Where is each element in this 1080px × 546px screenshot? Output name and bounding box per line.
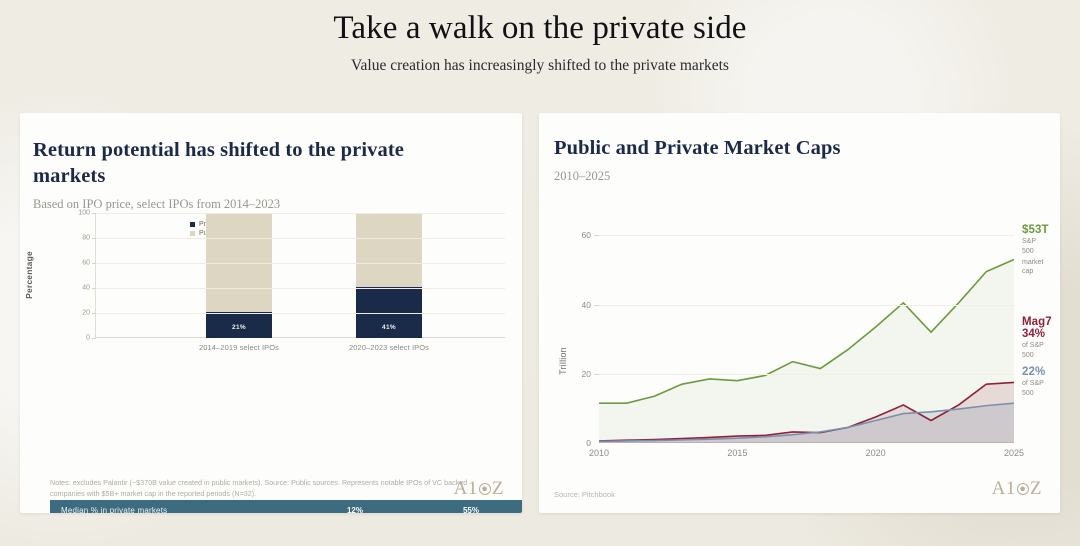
median-value-1: 12% (300, 506, 410, 513)
deck-header: Take a walk on the private side Value cr… (0, 0, 1080, 75)
annotation-line2: market cap (1022, 258, 1049, 278)
bar-chart-y-tick: 20 (82, 310, 90, 317)
bar-chart-x-tick: 2014–2019 select IPOs (179, 343, 299, 352)
median-summary-row: Median % in private markets 12% 55% (50, 500, 522, 513)
line-chart-x-tick: 2015 (727, 448, 747, 458)
bar-chart-y-tick: 40 (82, 285, 90, 292)
line-chart-gridline (599, 305, 1014, 306)
annotation-value-2: 34% (1022, 328, 1052, 340)
bar-column: 41% (356, 213, 422, 338)
line-chart-y-tick-mark (594, 374, 599, 375)
a16z-logo: A1Z (454, 478, 504, 500)
a16z-logo-z: Z (1030, 478, 1042, 500)
bar-chart-y-tick-mark (92, 288, 96, 289)
line-chart-svg (599, 218, 1014, 443)
bar-value-label: 41% (356, 324, 422, 331)
line-chart: Trillion $53T S&P 500 market cap Mag7 34… (554, 208, 1046, 513)
annotation-sp500: $53T S&P 500 market cap (1022, 224, 1049, 277)
bar-value-label: 21% (206, 324, 272, 331)
line-chart-y-tick-mark (594, 235, 599, 236)
right-panel-title: Public and Private Market Caps (539, 113, 1060, 160)
bar-chart-gridline (96, 263, 505, 264)
annotation-line1: of S&P 500 (1022, 379, 1045, 399)
bar-chart-y-tick: 60 (82, 260, 90, 267)
bar-chart-y-tick-mark (92, 263, 96, 264)
bar-chart-baseline (96, 337, 505, 338)
median-label: Median % in private markets (50, 506, 300, 513)
bar-chart-x-tick: 2020–2023 select IPOs (329, 343, 449, 352)
bar-chart: Percentage Private markets Public market… (33, 213, 513, 363)
bar-chart-gridline (96, 288, 505, 289)
bar-chart-y-tick: 100 (78, 210, 90, 217)
line-chart-y-tick: 40 (582, 300, 591, 310)
a16z-logo-z: Z (492, 478, 504, 500)
right-panel: Public and Private Market Caps 2010–2025… (539, 113, 1060, 513)
annotation-line1: S&P 500 (1022, 237, 1049, 257)
bar-chart-gridline (96, 313, 505, 314)
left-panel-subtitle: Based on IPO price, select IPOs from 201… (20, 189, 522, 212)
left-panel-title: Return potential has shifted to the priv… (20, 113, 522, 189)
annotation-mag7: Mag7 34% of S&P 500 (1022, 316, 1052, 361)
bar-chart-y-tick-mark (92, 338, 96, 339)
annotation-value: $53T (1022, 224, 1049, 236)
line-chart-y-axis-label: Trillion (558, 347, 568, 375)
line-chart-y-tick-mark (594, 305, 599, 306)
right-panel-subtitle: 2010–2025 (539, 160, 1060, 184)
left-panel: Return potential has shifted to the priv… (20, 113, 522, 513)
bar-segment-public (356, 213, 422, 287)
bar-chart-y-tick-mark (92, 313, 96, 314)
bar-column: 21% (206, 213, 272, 338)
annotation-value: Mag7 (1022, 316, 1052, 328)
bar-chart-gridline (96, 213, 505, 214)
bar-chart-y-tick-mark (92, 213, 96, 214)
bar-chart-y-tick: 80 (82, 235, 90, 242)
median-value-2: 55% (410, 506, 522, 513)
line-chart-gridline (599, 235, 1014, 236)
left-panel-notes: Notes: excludes Palantir (~$370B value c… (50, 477, 480, 499)
legend-swatch-icon (190, 231, 195, 236)
line-chart-plot-area: $53T S&P 500 market cap Mag7 34% of S&P … (599, 218, 1014, 443)
bar-chart-y-tick: 0 (86, 335, 90, 342)
line-chart-x-tick: 2010 (589, 448, 609, 458)
legend-swatch-icon (190, 222, 195, 227)
deck-title: Take a walk on the private side (0, 8, 1080, 48)
a16z-logo-a: A1 (992, 478, 1016, 500)
annotation-private: 22% of S&P 500 (1022, 366, 1045, 399)
line-chart-y-tick: 60 (582, 230, 591, 240)
bar-chart-y-tick-mark (92, 238, 96, 239)
bar-chart-gridline (96, 238, 505, 239)
a16z-logo: A1Z (992, 478, 1042, 500)
a16z-mark-icon (1017, 483, 1029, 495)
line-chart-x-tick: 2025 (1004, 448, 1024, 458)
a16z-mark-icon (479, 483, 491, 495)
line-chart-x-tick: 2020 (866, 448, 886, 458)
deck-subtitle: Value creation has increasingly shifted … (0, 57, 1080, 75)
panel-container: Return potential has shifted to the priv… (20, 113, 1060, 513)
bar-chart-plot-area: Private markets Public markets 21% (95, 213, 505, 338)
bar-chart-y-axis-label: Percentage (24, 251, 34, 299)
right-panel-source: Source: Pitchbook (554, 490, 615, 499)
annotation-line1: of S&P 500 (1022, 341, 1052, 361)
annotation-value: 22% (1022, 366, 1045, 378)
line-chart-y-tick: 20 (582, 369, 591, 379)
a16z-logo-a: A1 (454, 478, 478, 500)
line-chart-y-tick: 0 (586, 438, 591, 448)
line-chart-gridline (599, 374, 1014, 375)
line-chart-plot-wrapper: Trillion $53T S&P 500 market cap Mag7 34… (599, 218, 1014, 503)
bar-segment-private: 21% (206, 312, 272, 338)
